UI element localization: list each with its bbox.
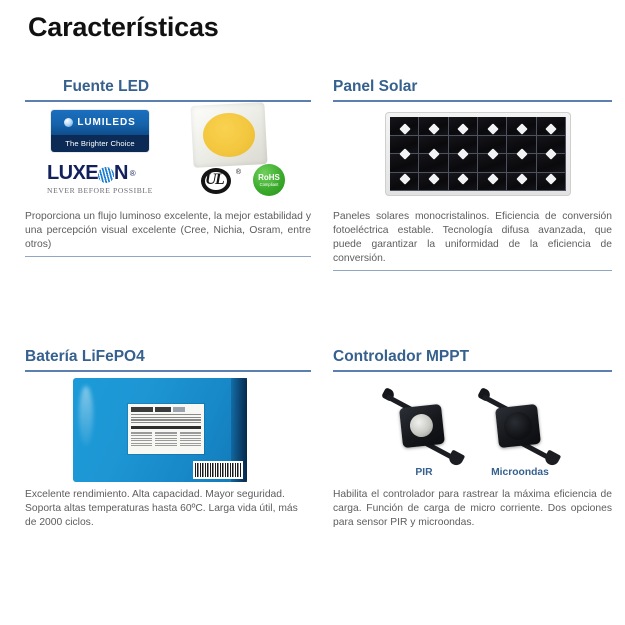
media-led-logos: LUMILEDS The Brighter Choice LUXE N ® NE…	[25, 102, 311, 210]
sensor-module-group: PIR Microondas	[381, 376, 581, 476]
battery-label-lines	[131, 414, 201, 423]
battery-label-bar	[131, 426, 201, 429]
battery-label-columns	[131, 432, 201, 446]
sensor-module-microwave: Microondas	[477, 376, 563, 472]
ul-glyph: UL	[205, 171, 223, 189]
rohs-compliant-icon: RoHS Compliant	[253, 164, 285, 196]
battery-label-header	[131, 407, 201, 412]
ul-certification-icon: UL ®	[201, 168, 241, 194]
footer-divider	[333, 270, 612, 271]
card-heading-panel-solar: Panel Solar	[333, 78, 612, 96]
luxeon-tagline: NEVER BEFORE POSSIBLE	[47, 186, 183, 195]
solar-cell-grid	[390, 117, 566, 191]
lumileds-sphere-icon	[64, 118, 73, 127]
battery-highlight	[79, 386, 93, 446]
lumileds-wordmark: LUMILEDS	[77, 117, 135, 128]
card-heading-controlador-mppt: Controlador MPPT	[333, 348, 612, 366]
sensor-caption-pir: PIR	[381, 467, 467, 478]
luxeon-wordmark-suffix: N	[114, 162, 128, 185]
card-fuente-led: Fuente LED LUMILEDS The Brighter Choice …	[25, 78, 311, 257]
sensor-caption-microondas: Microondas	[477, 467, 563, 478]
lumileds-logo: LUMILEDS The Brighter Choice	[51, 110, 149, 152]
lumileds-tagline: The Brighter Choice	[51, 135, 149, 152]
card-bateria-lifepo4: Batería LiFePO4 Excelent	[25, 348, 311, 530]
footer-divider	[25, 256, 311, 257]
card-description-panel-solar: Paneles solares monocristalinos. Eficien…	[333, 210, 612, 266]
card-controlador-mppt: Controlador MPPT PIR	[333, 348, 612, 530]
solar-panel-photo	[385, 112, 571, 196]
luxeon-wordmark: LUXE N ®	[47, 162, 183, 185]
card-description-controlador-mppt: Habilita el controlador para rastrear la…	[333, 488, 612, 530]
sensor-module-pir: PIR	[381, 376, 467, 472]
sensor-housing	[399, 404, 445, 448]
luxeon-globe-icon	[98, 167, 114, 183]
battery-barcode	[195, 463, 241, 477]
card-heading-fuente-led: Fuente LED	[25, 78, 311, 96]
media-sensor-modules: PIR Microondas	[333, 372, 612, 488]
rohs-label-primary: RoHS	[258, 174, 280, 182]
sensor-lens-icon	[503, 411, 534, 442]
led-phosphor-dome	[203, 113, 255, 157]
battery-spec-label	[128, 404, 204, 454]
luxeon-wordmark-prefix: LUXE	[47, 162, 98, 185]
luxeon-registered-mark: ®	[130, 169, 135, 178]
card-panel-solar: Panel Solar Paneles solares monocristali…	[333, 78, 612, 271]
lumileds-logo-top: LUMILEDS	[51, 110, 149, 135]
luxeon-logo: LUXE N ® NEVER BEFORE POSSIBLE	[47, 162, 183, 195]
rohs-label-secondary: Compliant	[260, 182, 279, 187]
solar-panel-glass	[390, 117, 566, 191]
card-description-fuente-led: Proporciona un flujo luminoso excelente,…	[25, 210, 311, 252]
media-solar-panel	[333, 102, 612, 210]
media-battery	[25, 372, 311, 488]
card-description-bateria-lifepo4: Excelente rendimiento. Alta capacidad. M…	[25, 488, 311, 530]
ul-registered-mark: ®	[236, 169, 241, 176]
led-chip-photo	[192, 104, 266, 166]
battery-pack-photo	[73, 378, 247, 482]
card-heading-bateria-lifepo4: Batería LiFePO4	[25, 348, 311, 366]
sensor-lens-icon	[409, 413, 434, 438]
sensor-housing	[495, 404, 541, 448]
page-title: Características	[28, 12, 219, 43]
